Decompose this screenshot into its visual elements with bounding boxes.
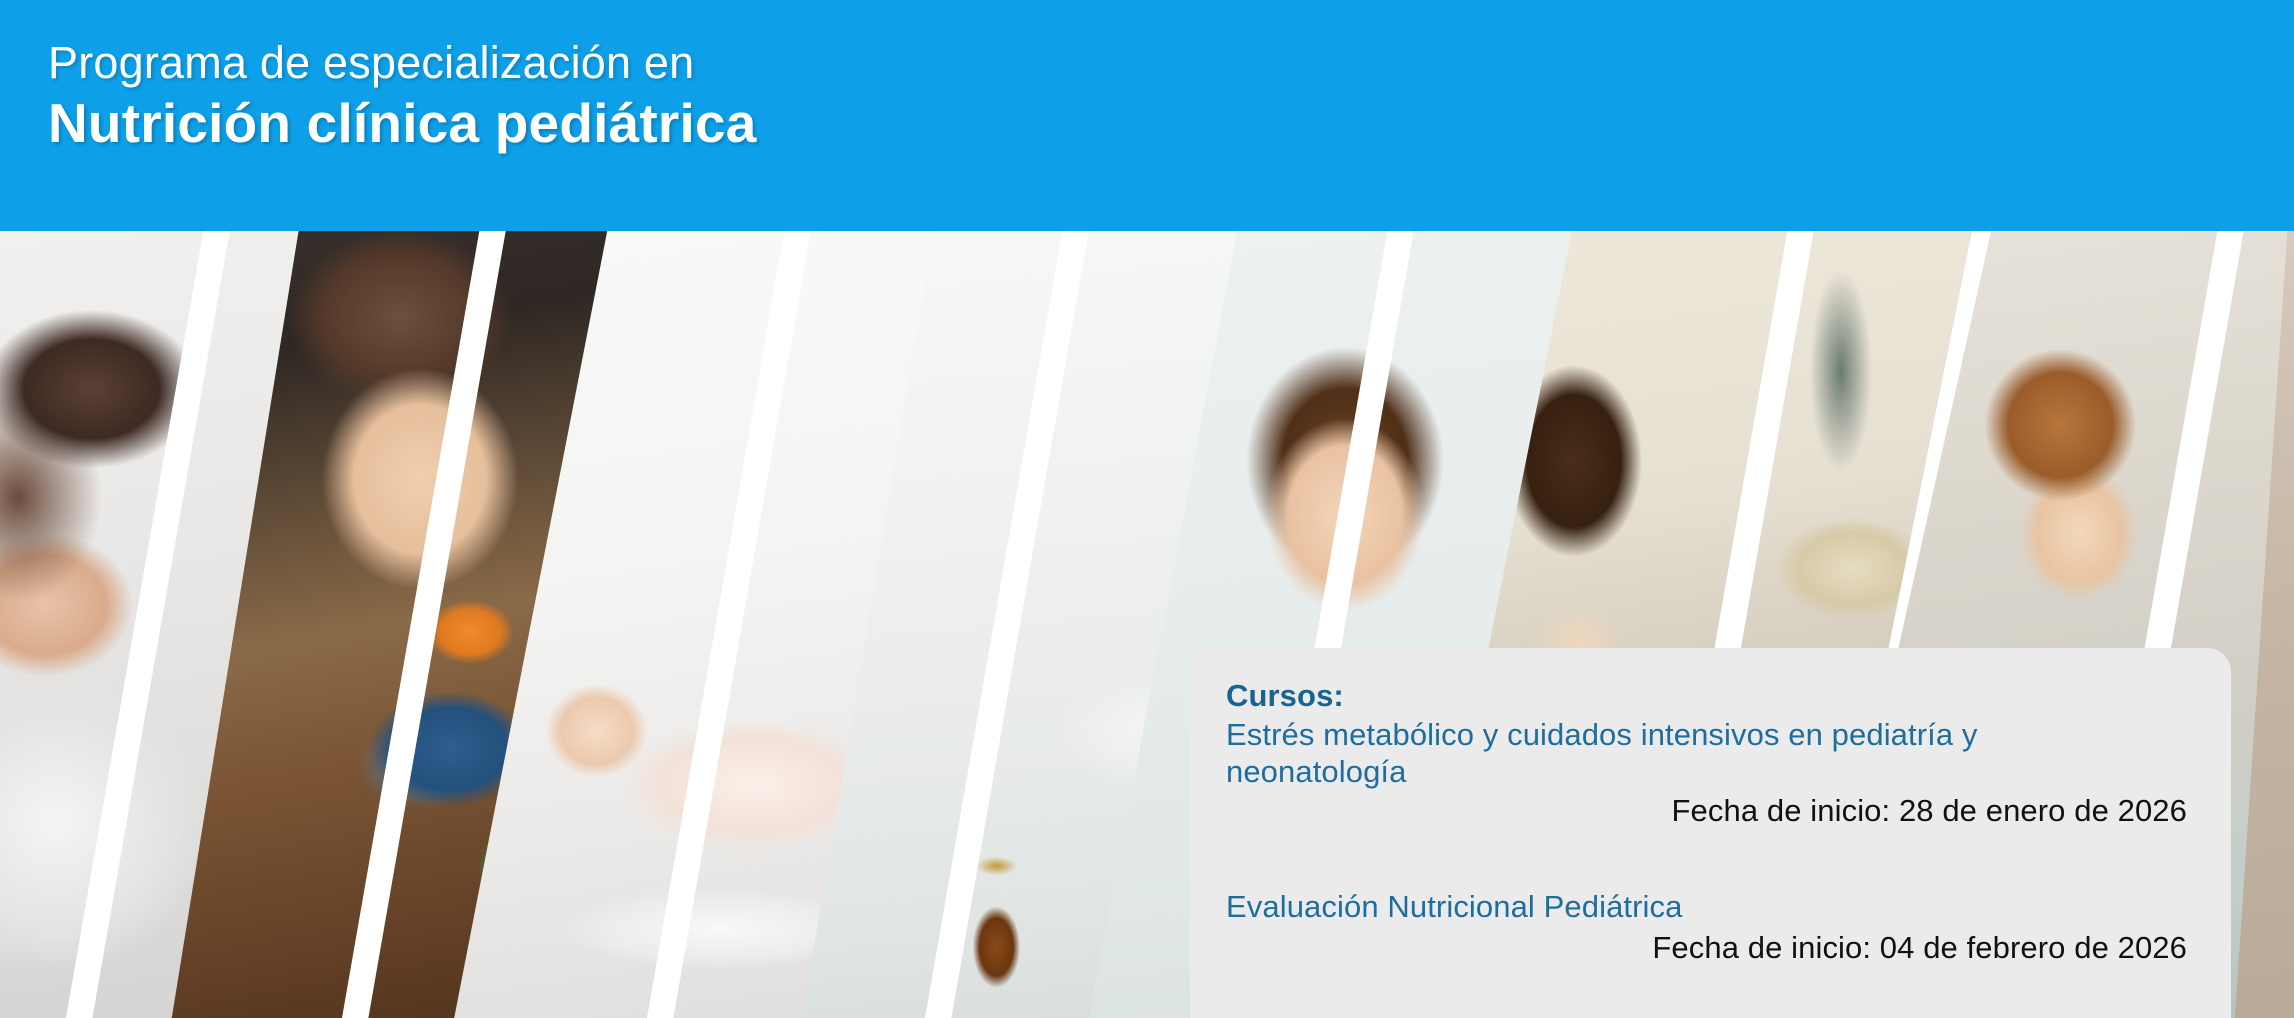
program-title: Nutrición clínica pediátrica <box>48 91 757 156</box>
course-item: Estrés metabólico y cuidados intensivos … <box>1226 716 2191 831</box>
banner-header: Programa de especialización en Nutrición… <box>0 0 2294 231</box>
program-banner: Programa de especialización en Nutrición… <box>0 0 2294 1018</box>
courses-heading: Cursos: <box>1226 676 2191 716</box>
header-text-group: Programa de especialización en Nutrición… <box>48 36 757 156</box>
course-start-date: Fecha de inicio: 04 de febrero de 2026 <box>1226 928 2191 967</box>
course-start-date: Fecha de inicio: 28 de enero de 2026 <box>1226 791 2191 830</box>
course-title: Estrés metabólico y cuidados intensivos … <box>1226 716 2056 792</box>
courses-info-card: Cursos: Estrés metabólico y cuidados int… <box>1190 648 2231 1018</box>
course-title: Evaluación Nutricional Pediátrica <box>1226 888 2056 926</box>
course-item: Evaluación Nutricional Pediátrica Fecha … <box>1226 888 2191 967</box>
program-eyebrow: Programa de especialización en <box>48 36 757 89</box>
